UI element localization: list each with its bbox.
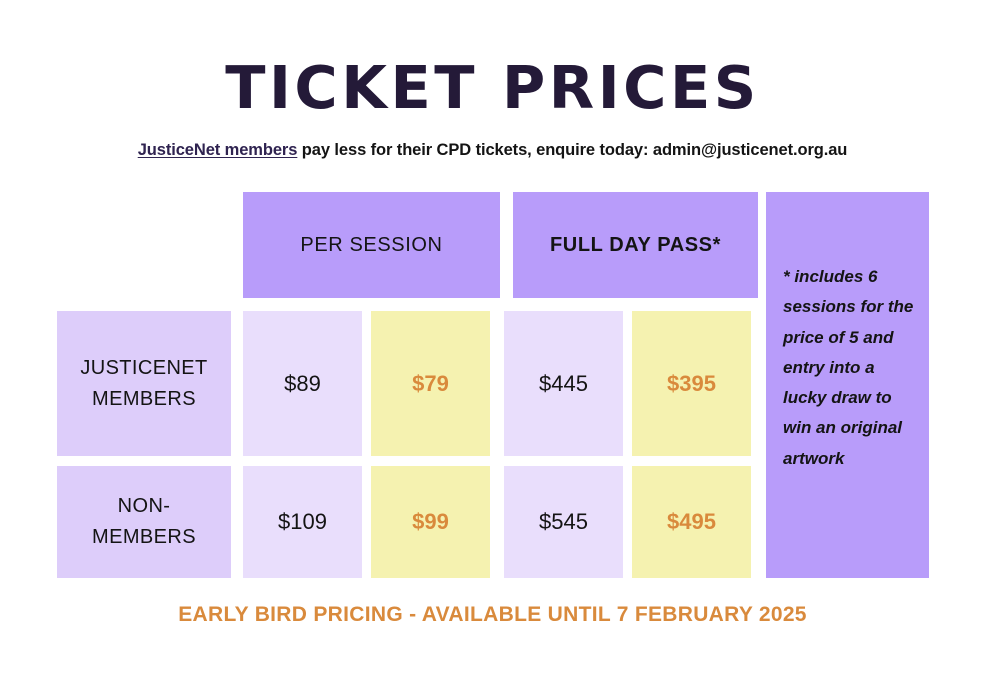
price-nonmembers-per-session-regular: $109 [243,466,362,578]
price-members-per-session-early-bird: $79 [371,311,490,456]
price-nonmembers-full-day-early-bird: $495 [632,466,751,578]
subtitle-rest: pay less for their CPD tickets, enquire … [297,141,847,159]
row-label-justicenet-members: JUSTICENET MEMBERS [57,311,231,456]
row-label-line2: MEMBERS [92,384,196,415]
row-label-line1: JUSTICENET [80,353,207,384]
column-header-per-session: PER SESSION [243,192,500,298]
page-title: TICKET PRICES [0,58,985,117]
cell-gap [623,466,632,578]
price-members-per-session-regular: $89 [243,311,362,456]
price-members-full-day-regular: $445 [504,311,623,456]
cell-gap [623,311,632,456]
row-label-non-members: NON- MEMBERS [57,466,231,578]
ticket-prices-page: TICKET PRICES JusticeNet members pay les… [0,0,985,679]
subtitle: JusticeNet members pay less for their CP… [0,141,985,160]
price-nonmembers-full-day-regular: $545 [504,466,623,578]
column-header-per-session-label: PER SESSION [300,234,442,257]
full-day-pass-footnote: * includes 6 sessions for the price of 5… [766,192,929,578]
cell-gap [362,466,371,578]
cell-gap [362,311,371,456]
column-header-full-day-pass-label: FULL DAY PASS* [550,234,721,257]
price-nonmembers-per-session-early-bird: $99 [371,466,490,578]
pricing-table: PER SESSION FULL DAY PASS* JUSTICENET ME… [57,192,929,578]
justicenet-members-link[interactable]: JusticeNet members [138,141,298,159]
price-members-full-day-early-bird: $395 [632,311,751,456]
row-label-line2: MEMBERS [92,522,196,553]
cell-gap [490,311,504,456]
row-label-line1: NON- [118,491,171,522]
column-header-full-day-pass: FULL DAY PASS* [513,192,758,298]
cell-gap [490,466,504,578]
early-bird-footer: EARLY BIRD PRICING - AVAILABLE UNTIL 7 F… [0,603,985,627]
